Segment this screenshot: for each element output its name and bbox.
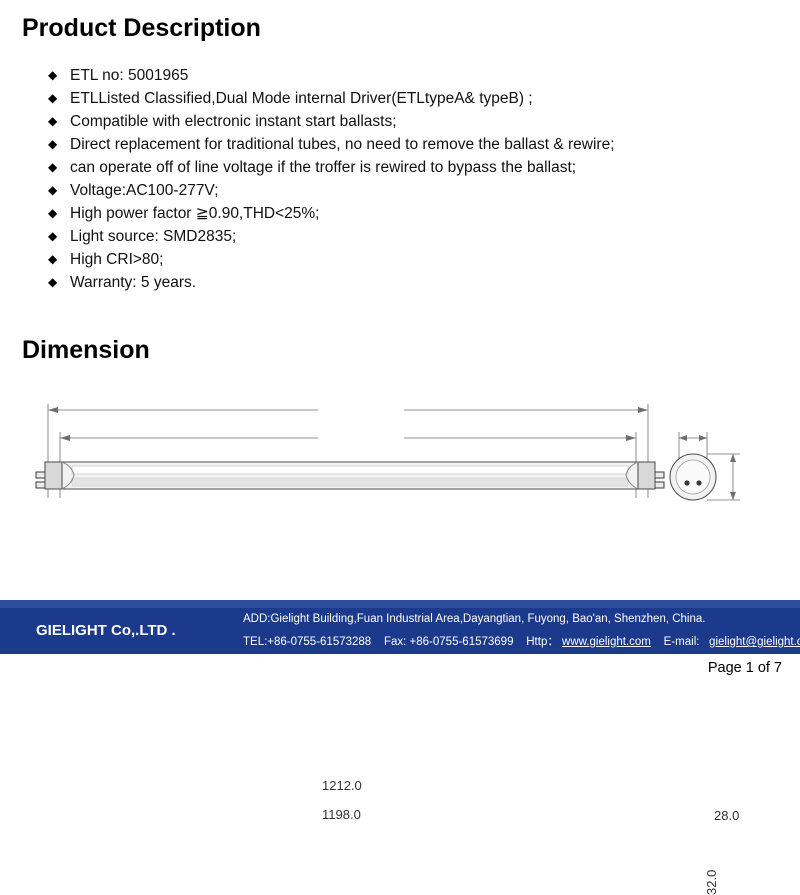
list-item-label: High power factor ≧0.90,THD<25%; [70,202,319,225]
footer-email-label: E-mail: [664,636,700,648]
list-item-label: ETLListed Classified,Dual Mode internal … [70,87,533,110]
list-item: ◆ Warranty: 5 years. [48,271,788,294]
dimension-diameter-label: 28.0 [714,808,739,823]
diamond-bullet-icon: ◆ [48,225,70,248]
footer-email-link[interactable]: gielight@gielight.com [709,636,800,648]
list-item-label: Light source: SMD2835; [70,225,236,248]
footer: GIELIGHT Co,.LTD . ADD:Gielight Building… [0,608,800,654]
list-item-label: Voltage:AC100-277V; [70,179,219,202]
dimension-drawing: 1212.0 1198.0 28.0 32.0 [0,380,800,580]
page-title-product-description: Product Description [22,14,261,43]
footer-http-label: Http： [526,636,559,648]
list-item-label: can operate off of line voltage if the t… [70,156,576,179]
diamond-bullet-icon: ◆ [48,133,70,156]
page-number: Page 1 of 7 [708,660,782,676]
footer-tel: TEL:+86-0755-61573288 [243,636,371,648]
tube-dimension-svg [0,380,800,580]
footer-contact-line: TEL:+86-0755-61573288 Fax: +86-0755-6157… [243,633,800,649]
list-item: ◆ can operate off of line voltage if the… [48,156,788,179]
diamond-bullet-icon: ◆ [48,110,70,133]
feature-list: ◆ ETL no: 5001965 ◆ ETLListed Classified… [48,64,788,294]
document-page: Product Description ◆ ETL no: 5001965 ◆ … [0,0,800,685]
footer-address: ADD:Gielight Building,Fuan Industrial Ar… [243,613,705,625]
dimension-height-label: 32.0 [704,870,719,895]
dimension-total-length-label: 1212.0 [322,778,362,793]
list-item: ◆ Voltage:AC100-277V; [48,179,788,202]
footer-company-name: GIELIGHT Co,.LTD . [36,622,176,639]
list-item: ◆ High CRI>80; [48,248,788,271]
list-item-label: Compatible with electronic instant start… [70,110,397,133]
page-title-dimension: Dimension [22,336,150,365]
footer-website-link[interactable]: www.gielight.com [562,636,651,648]
diamond-bullet-icon: ◆ [48,202,70,225]
list-item: ◆ Light source: SMD2835; [48,225,788,248]
diamond-bullet-icon: ◆ [48,87,70,110]
diamond-bullet-icon: ◆ [48,248,70,271]
list-item-label: High CRI>80; [70,248,163,271]
list-item: ◆ High power factor ≧0.90,THD<25%; [48,202,788,225]
list-item: ◆ Direct replacement for traditional tub… [48,133,788,156]
list-item-label: Warranty: 5 years. [70,271,196,294]
footer-accent-bar [0,600,800,608]
list-item-label: ETL no: 5001965 [70,64,188,87]
diamond-bullet-icon: ◆ [48,64,70,87]
diamond-bullet-icon: ◆ [48,271,70,294]
footer-fax: Fax: +86-0755-61573699 [384,636,513,648]
list-item: ◆ ETLListed Classified,Dual Mode interna… [48,87,788,110]
dimension-inner-length-label: 1198.0 [322,807,361,822]
diamond-bullet-icon: ◆ [48,179,70,202]
diamond-bullet-icon: ◆ [48,156,70,179]
list-item: ◆ Compatible with electronic instant sta… [48,110,788,133]
list-item-label: Direct replacement for traditional tubes… [70,133,615,156]
list-item: ◆ ETL no: 5001965 [48,64,788,87]
